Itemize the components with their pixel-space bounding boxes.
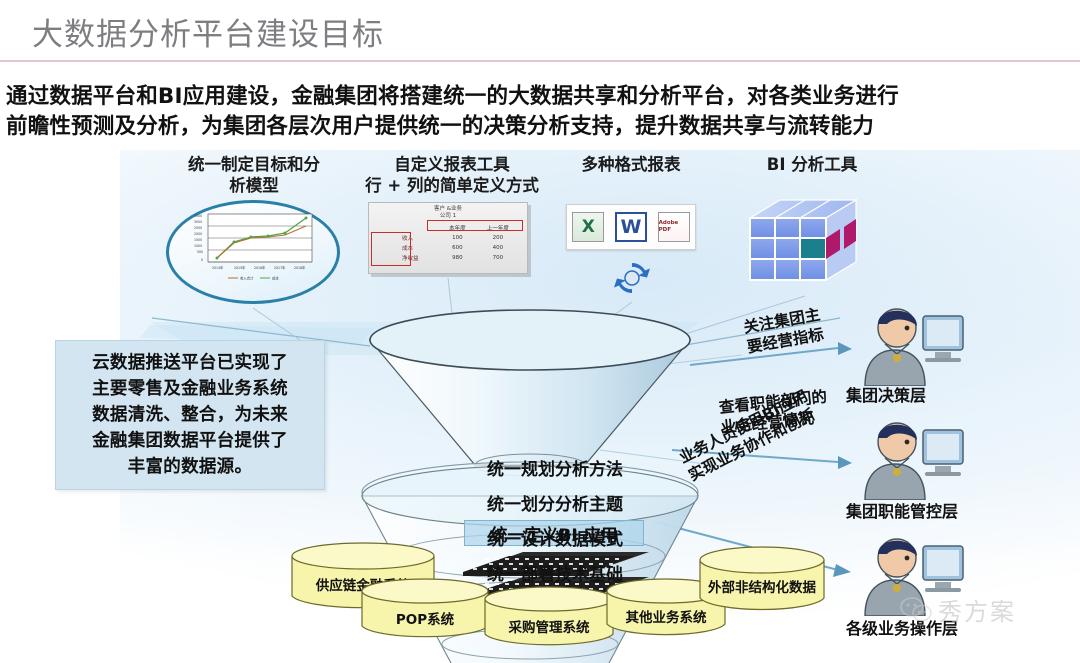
report-cell-0-1: 200 [475, 233, 521, 243]
report-preview-title: 客户 &业务 公司 1 [369, 206, 527, 220]
table-row: 收入 100 200 [399, 233, 521, 243]
blue-note-box: 云数据推送平台已实现了 主要零售及金融业务系统 数据清洗、整合，为未来 金融集团… [55, 340, 325, 490]
olap-cube-icon [744, 196, 866, 292]
svg-text:2018年: 2018年 [294, 265, 306, 270]
top-item-label-1: 统一制定目标和分 析模型 [166, 154, 342, 196]
role-label-1: 集团决策层 [846, 382, 926, 406]
source-label-3: 采购管理系统 [483, 616, 615, 636]
blue-note-line-1: 云数据推送平台已实现了 [92, 350, 288, 376]
report-table-thumbnail: 客户 &业务 公司 1 本年度 上一年度 收入 100 200 成本 600 4… [368, 202, 528, 274]
intro-line-2: 前瞻性预测及分析，为集团各层次用户提供统一的决策分析支持，提升数据共享与流转能力 [6, 112, 1074, 142]
top-item-label-2-line2: 行 + 列的简单定义方式 [352, 175, 552, 196]
svg-text:2017年: 2017年 [274, 265, 286, 270]
funnel-band-3: 统一设计数据模式 [430, 525, 680, 550]
report-title-line1: 客户 &业务 [369, 206, 527, 213]
slide-header: 大数据分析平台建设目标 [0, 0, 1080, 62]
svg-text:0: 0 [201, 258, 203, 262]
blue-note-line-2: 主要零售及金融业务系统 [92, 376, 288, 402]
source-label-2: POP系统 [360, 608, 490, 628]
svg-text:成本: 成本 [272, 275, 279, 280]
word-icon: W [615, 212, 647, 242]
report-cell-2-1: 700 [475, 253, 521, 263]
report-title-line2: 公司 1 [369, 213, 527, 220]
svg-text:500: 500 [197, 250, 203, 254]
top-item-label-4-line1: BI 分析工具 [742, 154, 882, 175]
slide-root: 大数据分析平台建设目标 通过数据平台和BI应用建设，金融集团将搭建统一的大数据共… [0, 0, 1080, 663]
column-highlight-box [427, 220, 523, 231]
top-item-label-1-line1: 统一制定目标和分 [166, 154, 342, 175]
top-item-label-2: 自定义报表工具 行 + 列的简单定义方式 [352, 154, 552, 196]
pdf-icon: Adobe PDF [658, 212, 690, 242]
top-item-label-1-line2: 析模型 [166, 175, 342, 196]
intro-paragraph: 通过数据平台和BI应用建设，金融集团将搭建统一的大数据共享和分析平台，对各类业务… [6, 82, 1074, 142]
svg-text:2000: 2000 [194, 232, 202, 236]
blue-note-line-5: 丰富的数据源。 [92, 454, 288, 480]
funnel-band-1: 统一规划分析方法 [430, 455, 680, 480]
svg-text:2015年: 2015年 [234, 265, 246, 270]
top-item-label-3: 多种格式报表 [556, 154, 706, 175]
top-item-label-2-line1: 自定义报表工具 [352, 154, 552, 175]
svg-text:1000: 1000 [194, 244, 202, 248]
source-cylinder-3: 采购管理系统 [483, 586, 615, 648]
watermark: 秀方案 [900, 592, 1016, 627]
intro-line-1: 通过数据平台和BI应用建设，金融集团将搭建统一的大数据共享和分析平台，对各类业务… [6, 82, 1074, 112]
top-item-label-4: BI 分析工具 [742, 154, 882, 175]
report-cell-2-0: 980 [440, 253, 475, 263]
person-executive-icon [845, 298, 965, 386]
source-label-5: 外部非结构化数据 [698, 576, 826, 596]
line-chart-thumbnail: 35003000 25002000 15001000 5000 2014年201… [186, 212, 322, 284]
table-row: 净收益 980 700 [399, 253, 521, 263]
report-cell-1-1: 400 [475, 243, 521, 253]
source-cylinder-2: POP系统 [360, 578, 490, 640]
report-cell-0-0: 100 [440, 233, 475, 243]
svg-text:1500: 1500 [194, 238, 202, 242]
blue-note-line-4: 金融集团数据平台提供了 [92, 428, 288, 454]
svg-text:3000: 3000 [194, 220, 202, 224]
report-cell-1-0: 600 [440, 243, 475, 253]
role-label-2: 集团职能管控层 [846, 498, 958, 522]
svg-text:收入合计: 收入合计 [240, 275, 254, 280]
top-item-label-3-line1: 多种格式报表 [556, 154, 706, 175]
diagram-stage: 统一制定目标和分 析模型 35003000 25002000 15001000 … [0, 150, 1080, 663]
funnel-band-2: 统一划分分析主题 [430, 490, 680, 515]
row-highlight-box [371, 232, 411, 266]
person-manager-icon [845, 412, 965, 500]
source-cylinder-5: 外部非结构化数据 [698, 546, 826, 612]
svg-text:2016年: 2016年 [254, 265, 266, 270]
blue-note-line-3: 数据清洗、整合，为未来 [92, 402, 288, 428]
excel-icon: X [572, 212, 604, 242]
refresh-cycle-icon [612, 258, 652, 298]
table-row: 成本 600 400 [399, 243, 521, 253]
wechat-icon [900, 596, 932, 624]
svg-text:3500: 3500 [194, 214, 202, 218]
blue-note-text: 云数据推送平台已实现了 主要零售及金融业务系统 数据清洗、整合，为未来 金融集团… [92, 350, 288, 480]
watermark-text: 秀方案 [938, 592, 1016, 627]
office-format-bar: X W Adobe PDF [566, 204, 696, 250]
svg-text:2014年: 2014年 [212, 265, 224, 270]
svg-text:2500: 2500 [194, 226, 202, 230]
header-divider [0, 60, 1080, 62]
page-title: 大数据分析平台建设目标 [32, 9, 384, 54]
